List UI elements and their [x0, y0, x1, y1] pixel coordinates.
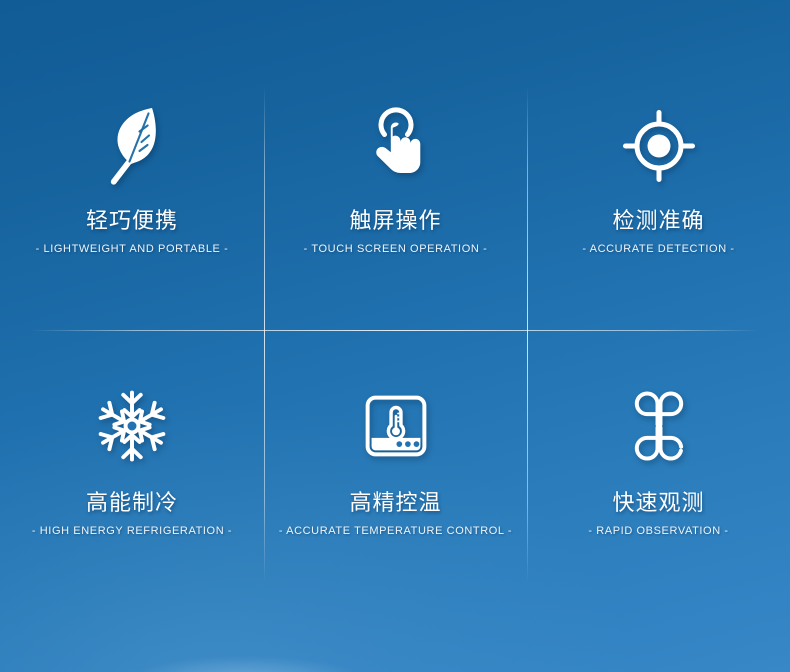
feature-card-lightweight-portable[interactable]: 轻巧便携 - LIGHTWEIGHT AND PORTABLE -	[0, 0, 264, 330]
snowflake-icon	[94, 384, 170, 468]
touch-hand-icon	[364, 104, 428, 188]
feature-title-cn: 快速观测	[612, 492, 704, 514]
feature-grid: 轻巧便携 - LIGHTWEIGHT AND PORTABLE - 触屏操作 -…	[0, 0, 790, 672]
thermostat-panel-icon	[363, 384, 429, 468]
feature-title-cn: 高能制冷	[86, 492, 178, 514]
feature-card-accurate-temperature-control[interactable]: 高精控温 - ACCURATE TEMPERATURE CONTROL -	[264, 330, 527, 672]
feature-title-en: - RAPID OBSERVATION -	[588, 526, 728, 537]
feature-title-en: - ACCURATE DETECTION -	[582, 244, 734, 255]
feature-card-accurate-detection[interactable]: 检测准确 - ACCURATE DETECTION -	[527, 0, 790, 330]
feature-title-cn: 高精控温	[349, 492, 441, 514]
crosshair-target-icon	[622, 104, 696, 188]
feather-icon	[102, 104, 162, 188]
feature-title-en: - TOUCH SCREEN OPERATION -	[304, 244, 488, 255]
feature-title-en: - LIGHTWEIGHT AND PORTABLE -	[36, 244, 229, 255]
feature-title-en: - HIGH ENERGY REFRIGERATION -	[32, 526, 232, 537]
feature-title-cn: 轻巧便携	[86, 210, 178, 232]
feature-banner: 轻巧便携 - LIGHTWEIGHT AND PORTABLE - 触屏操作 -…	[0, 0, 790, 672]
four-petal-clover-icon	[622, 384, 696, 468]
feature-card-rapid-observation[interactable]: 快速观测 - RAPID OBSERVATION -	[527, 330, 790, 672]
feature-title-cn: 检测准确	[612, 210, 704, 232]
feature-card-high-energy-refrigeration[interactable]: 高能制冷 - HIGH ENERGY REFRIGERATION -	[0, 330, 264, 672]
feature-title-cn: 触屏操作	[349, 210, 441, 232]
feature-title-en: - ACCURATE TEMPERATURE CONTROL -	[279, 526, 512, 537]
feature-card-touch-screen-operation[interactable]: 触屏操作 - TOUCH SCREEN OPERATION -	[264, 0, 527, 330]
